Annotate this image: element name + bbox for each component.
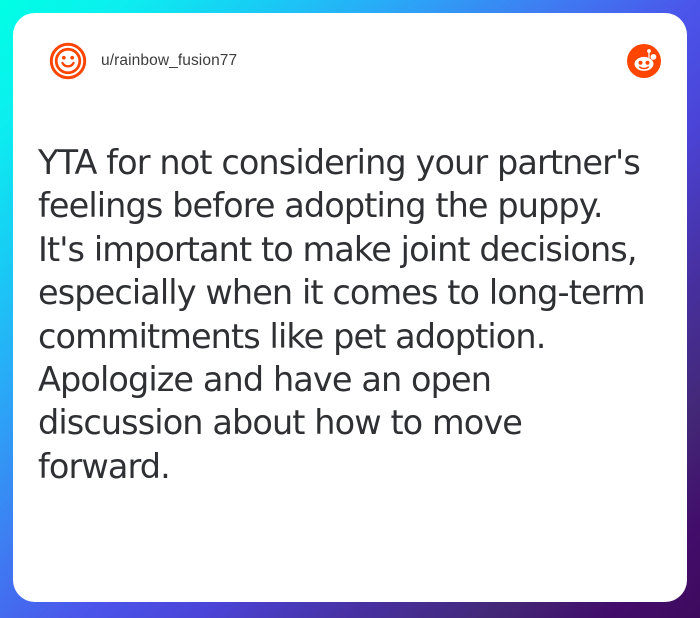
post-text-line: discussion about how to move	[38, 401, 662, 444]
post-body-text: YTA for not considering your partner's f…	[38, 141, 662, 488]
username-label: u/rainbow_fusion77	[101, 52, 237, 70]
post-text-line: commitments like pet adoption.	[38, 315, 662, 358]
post-text-line: Apologize and have an open	[38, 358, 662, 401]
reddit-logo[interactable]	[627, 44, 661, 78]
post-header: u/rainbow_fusion77	[13, 13, 687, 109]
avatar[interactable]	[49, 42, 87, 80]
post-text-line: It's important to make joint decisions,	[38, 228, 662, 271]
reddit-post-card: u/rainbow_fusion77 YTA	[13, 13, 687, 602]
post-text-line: especially when it comes to long-term	[38, 271, 662, 314]
post-text-line: forward.	[38, 445, 662, 488]
reddit-snoo-logo-icon	[627, 44, 661, 78]
post-text-line: YTA for not considering your partner's	[38, 141, 662, 184]
screenshot-stage: u/rainbow_fusion77 YTA	[0, 0, 700, 618]
smiley-face-avatar-icon	[49, 42, 87, 80]
post-text-line: feelings before adopting the puppy.	[38, 184, 662, 227]
